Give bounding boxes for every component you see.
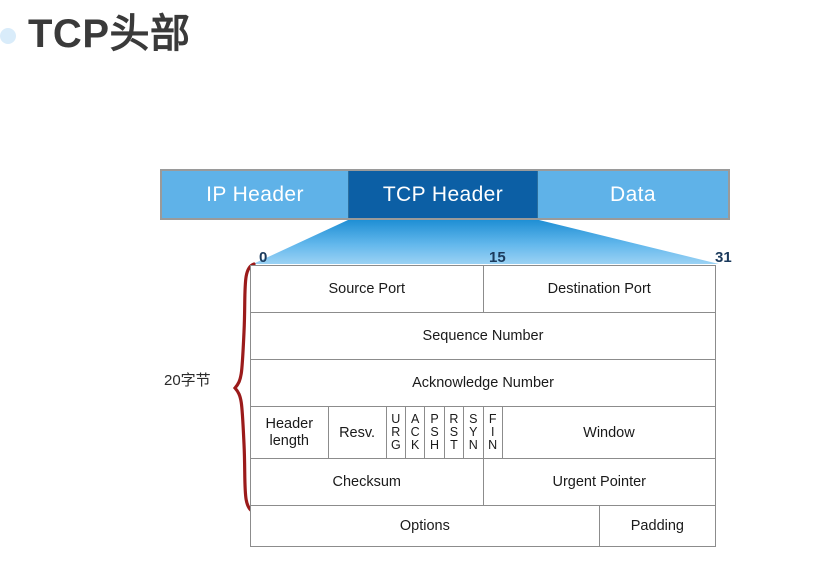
field-source-port[interactable]: Source Port [251,266,484,313]
table-row: Checksum Urgent Pointer [251,459,716,506]
page-title: TCP头部 [28,12,191,56]
flag-syn[interactable]: SYN [464,407,483,459]
flag-psh-letters: PSH [425,413,443,451]
field-reserved[interactable]: Resv. [328,407,386,459]
field-options[interactable]: Options [251,506,600,547]
field-window[interactable]: Window [502,407,715,459]
bit-label-15: 15 [489,250,506,265]
table-row: Acknowledge Number [251,360,716,407]
header-length-line1: Header [251,416,328,432]
brace-label-20-bytes: 20字节 [164,369,211,390]
flag-urg-letters: URG [387,413,405,451]
header-length-line2: length [251,433,328,449]
bit-label-0: 0 [259,250,267,265]
packet-layout-bar: IP Header TCP Header Data [160,169,730,220]
flag-syn-letters: SYN [464,413,482,451]
tcp-header-field-table: Source Port Destination Port Sequence Nu… [250,265,716,547]
field-destination-port[interactable]: Destination Port [483,266,716,313]
flag-ack[interactable]: ACK [406,407,425,459]
table-row: Sequence Number [251,313,716,360]
field-sequence-number[interactable]: Sequence Number [251,313,716,360]
flag-fin[interactable]: FIN [483,407,502,459]
flag-rst-letters: RST [445,413,463,451]
packet-segment-data[interactable]: Data [538,171,728,218]
flag-urg[interactable]: URG [386,407,405,459]
field-urgent-pointer[interactable]: Urgent Pointer [483,459,716,506]
field-padding[interactable]: Padding [599,506,715,547]
expand-trapezoid-icon [253,220,719,264]
packet-segment-ip-header[interactable]: IP Header [162,171,348,218]
flag-rst[interactable]: RST [444,407,463,459]
packet-segment-tcp-header[interactable]: TCP Header [348,171,538,218]
field-checksum[interactable]: Checksum [251,459,484,506]
field-acknowledge-number[interactable]: Acknowledge Number [251,360,716,407]
flag-psh[interactable]: PSH [425,407,444,459]
field-header-length[interactable]: Header length [251,407,329,459]
bit-label-31: 31 [715,250,732,265]
table-row: Source Port Destination Port [251,266,716,313]
flag-ack-letters: ACK [406,413,424,451]
table-row-flags: Header length Resv. URG ACK PSH RST SYN … [251,407,716,459]
flag-fin-letters: FIN [484,413,502,451]
table-row: Options Padding [251,506,716,547]
bullet-dot-icon [0,28,16,44]
